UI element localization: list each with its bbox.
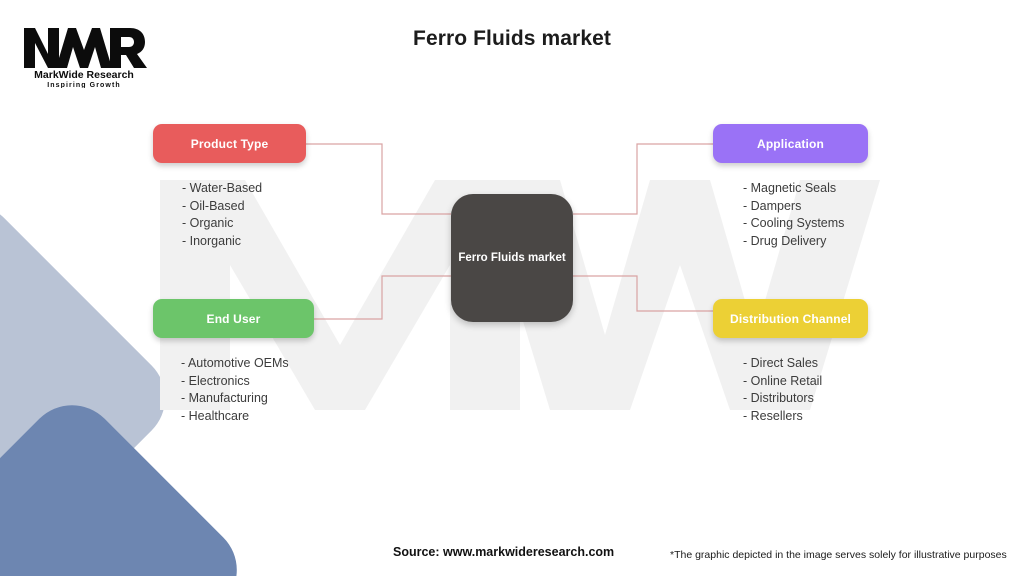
list-item: - Healthcare	[181, 408, 314, 426]
list-item: - Direct Sales	[743, 355, 868, 373]
list-item: - Inorganic	[182, 233, 306, 251]
list-item: - Oil-Based	[182, 198, 306, 216]
infographic-canvas: MarkWide Research Inspiring Growth Ferro…	[0, 0, 1024, 576]
group-items-distribution-channel: - Direct Sales - Online Retail - Distrib…	[713, 355, 868, 425]
group-header-application[interactable]: Application	[713, 124, 868, 163]
connector-distribution-channel	[573, 276, 713, 311]
list-item: - Online Retail	[743, 373, 868, 391]
center-node[interactable]: Ferro Fluids market	[451, 194, 573, 322]
list-item: - Distributors	[743, 390, 868, 408]
group-title-product-type: Product Type	[191, 137, 269, 151]
group-items-application: - Magnetic Seals - Dampers - Cooling Sys…	[713, 180, 868, 250]
group-title-application: Application	[757, 137, 824, 151]
list-item: - Organic	[182, 215, 306, 233]
list-item: - Manufacturing	[181, 390, 314, 408]
connector-end-user	[314, 276, 451, 319]
center-node-label: Ferro Fluids market	[452, 251, 571, 266]
group-items-product-type: - Water-Based - Oil-Based - Organic - In…	[153, 180, 306, 250]
group-end-user: End User - Automotive OEMs - Electronics…	[153, 299, 314, 425]
group-header-product-type[interactable]: Product Type	[153, 124, 306, 163]
logo-name-text: MarkWide Research	[34, 69, 134, 81]
group-product-type: Product Type - Water-Based - Oil-Based -…	[153, 124, 306, 250]
connector-application	[573, 144, 713, 214]
group-items-end-user: - Automotive OEMs - Electronics - Manufa…	[153, 355, 314, 425]
group-application: Application - Magnetic Seals - Dampers -…	[713, 124, 868, 250]
group-distribution-channel: Distribution Channel - Direct Sales - On…	[713, 299, 868, 425]
list-item: - Drug Delivery	[743, 233, 868, 251]
group-title-end-user: End User	[207, 312, 261, 326]
list-item: - Water-Based	[182, 180, 306, 198]
list-item: - Electronics	[181, 373, 314, 391]
group-title-distribution-channel: Distribution Channel	[730, 312, 851, 326]
list-item: - Automotive OEMs	[181, 355, 314, 373]
connector-product-type	[306, 144, 451, 214]
footer-source: Source: www.markwideresearch.com	[393, 545, 614, 559]
logo-tagline-text: Inspiring Growth	[47, 82, 121, 88]
list-item: - Magnetic Seals	[743, 180, 868, 198]
list-item: - Cooling Systems	[743, 215, 868, 233]
footer-disclaimer: *The graphic depicted in the image serve…	[670, 549, 1007, 561]
list-item: - Dampers	[743, 198, 868, 216]
group-header-distribution-channel[interactable]: Distribution Channel	[713, 299, 868, 338]
list-item: - Resellers	[743, 408, 868, 426]
group-header-end-user[interactable]: End User	[153, 299, 314, 338]
page-title: Ferro Fluids market	[0, 27, 1024, 51]
